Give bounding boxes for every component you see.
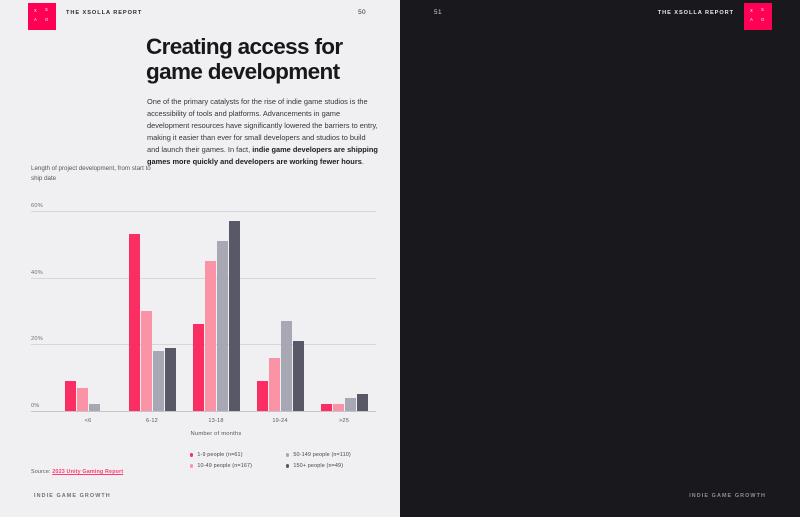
left-page-header: X S A O THE XSOLLA REPORT 50 — [0, 0, 400, 34]
bar — [153, 351, 164, 411]
bar-group — [257, 211, 304, 411]
bar — [129, 234, 140, 411]
page-number-left: 50 — [358, 9, 366, 16]
bar — [257, 381, 268, 411]
bar-chart-x-axis-title: Number of months — [56, 431, 376, 437]
bar — [193, 324, 204, 411]
legend-color-swatch — [190, 453, 193, 456]
x-tick-label: 19-24 — [272, 418, 287, 424]
report-name-left: THE XSOLLA REPORT — [66, 10, 142, 16]
bar — [205, 261, 216, 411]
bar — [345, 398, 356, 411]
x-tick-label: 6-12 — [146, 418, 158, 424]
gridline — [31, 411, 376, 412]
legend-color-swatch — [190, 464, 193, 467]
legend-item: 150+ people (n=49) — [286, 463, 390, 469]
legend-color-swatch — [286, 464, 289, 467]
y-tick-label: 0% — [31, 403, 40, 411]
bar-group — [65, 211, 112, 411]
x-tick-label: >25 — [339, 418, 349, 424]
bar-chart: 0%20%40%60% <66-1213-1819-24>25 Number o… — [31, 203, 376, 429]
page-number-right: 51 — [434, 9, 442, 16]
bar — [293, 341, 304, 411]
bar — [281, 321, 292, 411]
bar — [65, 381, 76, 411]
left-page: X S A O THE XSOLLA REPORT 50 Creating ac… — [0, 0, 400, 517]
bar-group — [193, 211, 240, 411]
bar — [141, 311, 152, 411]
bar-chart-caption: Length of project development, from star… — [31, 164, 161, 183]
left-footer: INDIE GAME GROWTH — [34, 493, 111, 499]
left-source-label: Source: — [31, 469, 52, 475]
bar — [229, 221, 240, 411]
y-tick-label: 20% — [31, 336, 43, 344]
bar — [321, 404, 332, 411]
left-page-intro: One of the primary catalysts for the ris… — [147, 96, 379, 168]
legend-item: 1-9 people (n=61) — [190, 452, 286, 458]
bar — [269, 358, 280, 411]
intro-text-2: . — [362, 157, 364, 166]
legend-item: 10-49 people (n=167) — [190, 463, 286, 469]
x-tick-label: 13-18 — [208, 418, 223, 424]
logo-glyph-o: O — [761, 18, 764, 22]
legend-label: 50-149 people (n=110) — [293, 452, 350, 458]
legend-label: 10-49 people (n=167) — [197, 463, 252, 469]
left-page-title: Creating access for game development — [146, 34, 376, 85]
right-page-header: X S A O THE XSOLLA REPORT 51 — [400, 0, 800, 34]
left-source: Source: 2023 Unity Gaming Report — [31, 469, 123, 475]
legend-label: 150+ people (n=49) — [293, 463, 343, 469]
logo-glyph-a: A — [750, 18, 753, 22]
xsolla-logo-icon: X S A O — [28, 3, 56, 30]
bar — [77, 388, 88, 411]
y-tick-label: 60% — [31, 203, 43, 211]
logo-glyph-o: O — [45, 18, 48, 22]
logo-glyph-s: S — [45, 8, 48, 12]
bar — [165, 348, 176, 411]
bar-group — [129, 211, 176, 411]
left-source-link[interactable]: 2023 Unity Gaming Report — [52, 469, 123, 475]
logo-glyph-x: X — [34, 9, 37, 13]
bar-chart-plot — [56, 211, 376, 411]
bar — [357, 394, 368, 411]
legend-item: 50-149 people (n=110) — [286, 452, 390, 458]
bar — [89, 404, 100, 411]
xsolla-logo-icon-right: X S A O — [744, 3, 772, 30]
x-tick-label: <6 — [85, 418, 92, 424]
logo-glyph-a: A — [34, 18, 37, 22]
legend-color-swatch — [286, 453, 289, 456]
right-page: X S A O THE XSOLLA REPORT 51 Cross-platf… — [400, 0, 800, 517]
report-spread: X S A O THE XSOLLA REPORT 50 Creating ac… — [0, 0, 800, 517]
report-name-right: THE XSOLLA REPORT — [658, 10, 734, 16]
legend-label: 1-9 people (n=61) — [197, 452, 242, 458]
bar — [217, 241, 228, 411]
logo-glyph-x: X — [750, 9, 753, 13]
y-tick-label: 40% — [31, 270, 43, 278]
bar-group — [321, 211, 368, 411]
logo-glyph-s: S — [761, 8, 764, 12]
bar-chart-legend: 1-9 people (n=61)50-149 people (n=110)10… — [190, 452, 390, 469]
right-footer: INDIE GAME GROWTH — [689, 493, 766, 499]
bar — [333, 404, 344, 411]
